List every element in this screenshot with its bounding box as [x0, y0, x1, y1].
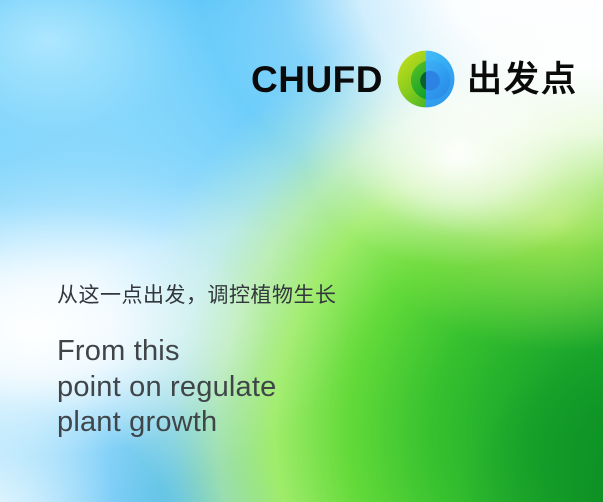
poster-canvas: CHUFD [0, 0, 603, 502]
copy-block: 从这一点出发，调控植物生长 From this point on regulat… [57, 283, 337, 440]
tagline-english: From this point on regulate plant growth [57, 334, 337, 440]
brand-chinese-name: 出发点 [467, 62, 578, 97]
brand-lockup: CHUFD [251, 50, 578, 108]
chufd-circle-logo-icon [397, 50, 455, 108]
tagline-chinese: 从这一点出发，调控植物生长 [57, 283, 337, 308]
brand-wordmark: CHUFD [251, 61, 383, 98]
